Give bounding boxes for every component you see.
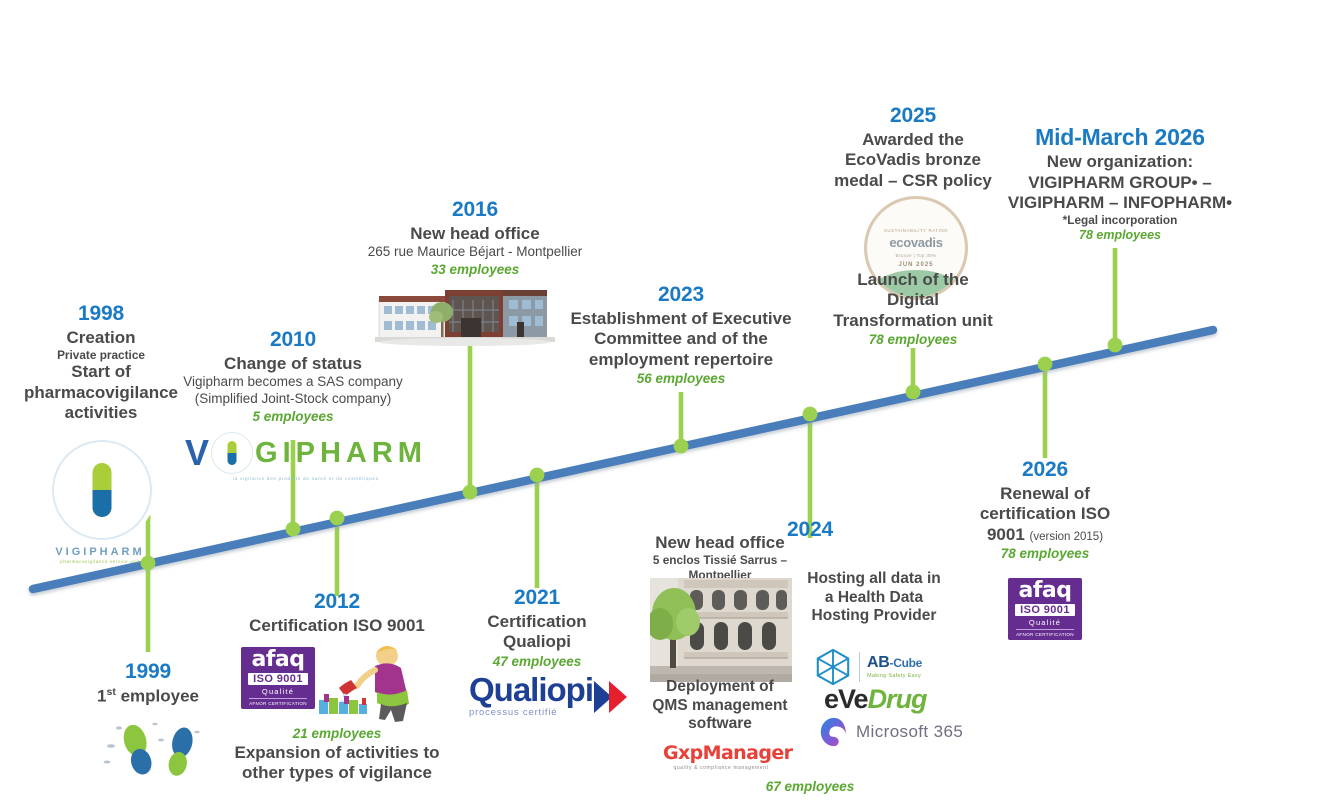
event-hosting-line3-2024: Hosting Provider bbox=[794, 607, 954, 626]
event-year-2023: 2023 bbox=[561, 283, 801, 308]
event-hosting-line2-2024: a Health Data bbox=[794, 589, 954, 608]
event-headline2-line2-1998: pharmacovigilance bbox=[6, 383, 196, 403]
event-headline-version-2026: (version 2015) bbox=[1030, 531, 1104, 543]
event-headline-line1-2021: Certification bbox=[462, 612, 612, 632]
event-headline-2010: Change of status bbox=[173, 354, 413, 374]
event-employees-2026: 78 employees bbox=[961, 545, 1129, 563]
event-deploy-line1-2024: Deployment of bbox=[620, 678, 820, 697]
microsoft365-icon bbox=[818, 716, 850, 748]
timeline-node-2016 bbox=[463, 485, 478, 500]
old-head-office-illustration bbox=[650, 578, 792, 687]
vigipharm-wordmark: VIGIPHARM bbox=[52, 546, 148, 558]
capsule-icon bbox=[93, 463, 112, 517]
footprints-icon bbox=[95, 714, 211, 794]
abcube-suffix: -Cube bbox=[890, 656, 923, 670]
event-employees-2016: 33 employees bbox=[347, 261, 603, 279]
event-year-2012: 2012 bbox=[222, 590, 452, 615]
afaq-badge-issuer: AFNOR CERTIFICATION bbox=[249, 698, 307, 706]
gxpmanager-tagline: quality & compliance management bbox=[663, 765, 779, 771]
event-employees-2025: 78 employees bbox=[832, 331, 994, 349]
head-office-building-illustration bbox=[375, 278, 555, 351]
event-employees-2012: 21 employees bbox=[222, 725, 452, 743]
event-employees-2024: 67 employees bbox=[720, 778, 900, 796]
event-headline-line3-2026: 9001 (version 2015) bbox=[961, 525, 1129, 545]
event-sub-1998: Private practice bbox=[6, 348, 196, 362]
event-1998[interactable]: 1998 Creation Private practice Start of … bbox=[6, 302, 196, 423]
qualiopi-wordmark: Qualiopi bbox=[469, 673, 593, 706]
afaq-badge-quality: Qualité bbox=[262, 687, 294, 696]
event-headline-line3-mid-march-2026: VIGIPHARM – INFOPHARM• bbox=[990, 193, 1250, 213]
ecovadis-wordmark: ecovadis bbox=[889, 235, 942, 250]
event-year-1998: 1998 bbox=[6, 302, 196, 327]
timeline-node-mid-march-2026 bbox=[1108, 338, 1123, 353]
afaq-badge-standard-2026: ISO 9001 bbox=[1015, 604, 1075, 616]
event-2024-office[interactable]: New head office 5 enclos Tissié Sarrus –… bbox=[620, 533, 820, 582]
event-sub-2016: 265 rue Maurice Béjart - Montpellier bbox=[347, 244, 603, 261]
ecovadis-date: JUN 2025 bbox=[898, 262, 933, 268]
abcube-tagline: Making Safety Easy bbox=[867, 674, 922, 680]
vigipharm-round-logo: VIGIPHARM pharmacovigilance service unit bbox=[52, 440, 148, 564]
abcube-prefix: AB bbox=[867, 654, 890, 671]
ecovadis-top-label: SUSTAINABILITY RATING bbox=[884, 228, 948, 233]
vigipharm-capsule-icon-small bbox=[211, 432, 253, 474]
vigipharm-logo-rest: GIPHARM bbox=[255, 439, 427, 468]
event-1999[interactable]: 1999 1st employee bbox=[78, 660, 218, 707]
event-2024-employees-wrap: 67 employees bbox=[720, 778, 900, 796]
vigipharm-horizontal-logo: V GIPHARM la vigilance des produits de s… bbox=[185, 432, 427, 481]
event-headline2-line3-1998: activities bbox=[6, 403, 196, 423]
timeline-node-2010 bbox=[286, 522, 301, 537]
event-headline2-line1-1998: Start of bbox=[6, 362, 196, 382]
event-headline-1998: Creation bbox=[6, 328, 196, 348]
microsoft365-logo: Microsoft 365 bbox=[818, 716, 963, 748]
timeline-node-2023 bbox=[674, 439, 689, 454]
event-2024-deployment[interactable]: Deployment of QMS management software bbox=[620, 678, 820, 734]
event-sub2-2010: (Simplified Joint-Stock company) bbox=[173, 391, 413, 408]
event-headline-line2-2026: certification ISO bbox=[961, 504, 1129, 524]
event-employees-2023: 56 employees bbox=[561, 370, 801, 388]
event-office-headline-2024: New head office bbox=[620, 533, 820, 553]
ecovadis-level: Bronze | Top 35% bbox=[896, 253, 937, 258]
timeline-infographic: 1998 Creation Private practice Start of … bbox=[0, 0, 1321, 807]
event-year-mid-march-2026: Mid-March 2026 bbox=[990, 124, 1250, 151]
event-2026[interactable]: 2026 Renewal of certification ISO 9001 (… bbox=[961, 458, 1129, 562]
timeline-node-2024 bbox=[803, 407, 818, 422]
event-launch-line3-2025: Transformation unit bbox=[832, 311, 994, 331]
abcube-divider bbox=[859, 652, 860, 682]
event-footer-line1-2012: Expansion of activities to bbox=[222, 743, 452, 763]
event-2024-hosting[interactable]: Hosting all data in a Health Data Hostin… bbox=[794, 570, 954, 626]
microsoft365-label: Microsoft 365 bbox=[856, 722, 963, 742]
event-headline-line3-2023: employment repertoire bbox=[561, 350, 801, 370]
gxpmanager-logo: GxpManager quality & compliance manageme… bbox=[663, 744, 779, 771]
event-headline-2012: Certification ISO 9001 bbox=[222, 616, 452, 636]
event-headline-line2-mid-march-2026: VIGIPHARM GROUP• – bbox=[990, 173, 1250, 193]
event-employees-2021: 47 employees bbox=[462, 653, 612, 671]
event-year-2021: 2021 bbox=[462, 586, 612, 611]
qualiopi-logo: Qualiopi processus certifié bbox=[469, 673, 627, 718]
event-sub1-2010: Vigipharm becomes a SAS company bbox=[173, 374, 413, 391]
abcube-hex-icon bbox=[814, 648, 852, 686]
afaq-badge-standard: ISO 9001 bbox=[248, 673, 308, 685]
event-headline-line1-2026: Renewal of bbox=[961, 484, 1129, 504]
event-note-mid-march-2026: *Legal incorporation bbox=[990, 213, 1250, 227]
event-mid-march-2026[interactable]: Mid-March 2026 New organization: VIGIPHA… bbox=[990, 124, 1250, 244]
event-employees-mid-march-2026: 78 employees bbox=[990, 227, 1250, 243]
qualiopi-tagline: processus certifié bbox=[469, 707, 593, 718]
event-2023[interactable]: 2023 Establishment of Executive Committe… bbox=[561, 283, 801, 387]
afaq-badge-quality-2026: Qualité bbox=[1029, 618, 1061, 627]
event-year-1999: 1999 bbox=[78, 660, 218, 685]
timeline-node-2012 bbox=[330, 511, 345, 526]
event-headline-2016: New head office bbox=[347, 224, 603, 244]
event-employees-2010: 5 employees bbox=[173, 408, 413, 426]
event-2016[interactable]: 2016 New head office 265 rue Maurice Béj… bbox=[347, 198, 603, 279]
afaq-badge-issuer-2026: AFNOR CERTIFICATION bbox=[1016, 629, 1074, 637]
gxpmanager-wordmark: GxpManager bbox=[663, 744, 779, 763]
evedrug-logo: eVeDrug bbox=[824, 686, 927, 713]
event-footer-line2-2012: other types of vigilance bbox=[222, 763, 452, 783]
afaq-iso-badge-2012: afaq ISO 9001 Qualité AFNOR CERTIFICATIO… bbox=[241, 647, 315, 709]
event-headline-line1-mid-march-2026: New organization: bbox=[990, 152, 1250, 172]
event-headline-line1-2023: Establishment of Executive bbox=[561, 309, 801, 329]
event-2025[interactable]: 2025 Awarded the EcoVadis bronze medal –… bbox=[832, 104, 994, 191]
event-headline-iso-number-2026: 9001 bbox=[987, 525, 1025, 544]
vigipharm-capsule-icon bbox=[52, 440, 152, 540]
vigipharm-logo-tagline: la vigilance des produits de santé et de… bbox=[233, 476, 427, 481]
event-headline-line1-2025: Awarded the bbox=[832, 130, 994, 150]
vigipharm-logo-letter: V bbox=[185, 435, 209, 471]
event-2021[interactable]: 2021 Certification Qualiopi 47 employees bbox=[462, 586, 612, 670]
vigipharm-tagline: pharmacovigilance service unit bbox=[52, 559, 148, 564]
event-2012-footer[interactable]: 21 employees Expansion of activities to … bbox=[222, 725, 452, 783]
afaq-badge-title-2026: afaq bbox=[1018, 581, 1071, 602]
event-launch-line1-2025: Launch of the bbox=[832, 270, 994, 290]
event-headline-line2-2021: Qualiopi bbox=[462, 632, 612, 652]
timeline-node-2026 bbox=[1038, 357, 1053, 372]
event-headline-line3-2025: medal – CSR policy bbox=[832, 171, 994, 191]
event-year-2026: 2026 bbox=[961, 458, 1129, 483]
event-hosting-line1-2024: Hosting all data in bbox=[794, 570, 954, 589]
timeline-node-2025 bbox=[906, 385, 921, 400]
event-headline-line2-2023: Committee and of the bbox=[561, 329, 801, 349]
afaq-badge-title: afaq bbox=[251, 650, 304, 671]
timeline-node-2021 bbox=[530, 468, 545, 483]
abcube-logo: AB-Cube Making Safety Easy bbox=[814, 648, 922, 686]
event-2025-launch[interactable]: Launch of the Digital Transformation uni… bbox=[832, 270, 994, 349]
event-year-2016: 2016 bbox=[347, 198, 603, 223]
event-headline-line2-2025: EcoVadis bronze bbox=[832, 150, 994, 170]
event-year-2025: 2025 bbox=[832, 104, 994, 129]
event-launch-line2-2025: Digital bbox=[832, 290, 994, 310]
event-headline-1999: 1st employee bbox=[78, 686, 218, 707]
event-2012[interactable]: 2012 Certification ISO 9001 bbox=[222, 590, 452, 636]
evedrug-part1: eVe bbox=[824, 684, 868, 714]
event-deploy-line2-2024: QMS management bbox=[620, 697, 820, 716]
event-deploy-line3-2024: software bbox=[620, 715, 820, 734]
evedrug-part2: Drug bbox=[868, 684, 927, 714]
afaq-iso-badge-2026: afaq ISO 9001 Qualité AFNOR CERTIFICATIO… bbox=[1008, 578, 1082, 640]
gardener-illustration bbox=[315, 640, 425, 735]
